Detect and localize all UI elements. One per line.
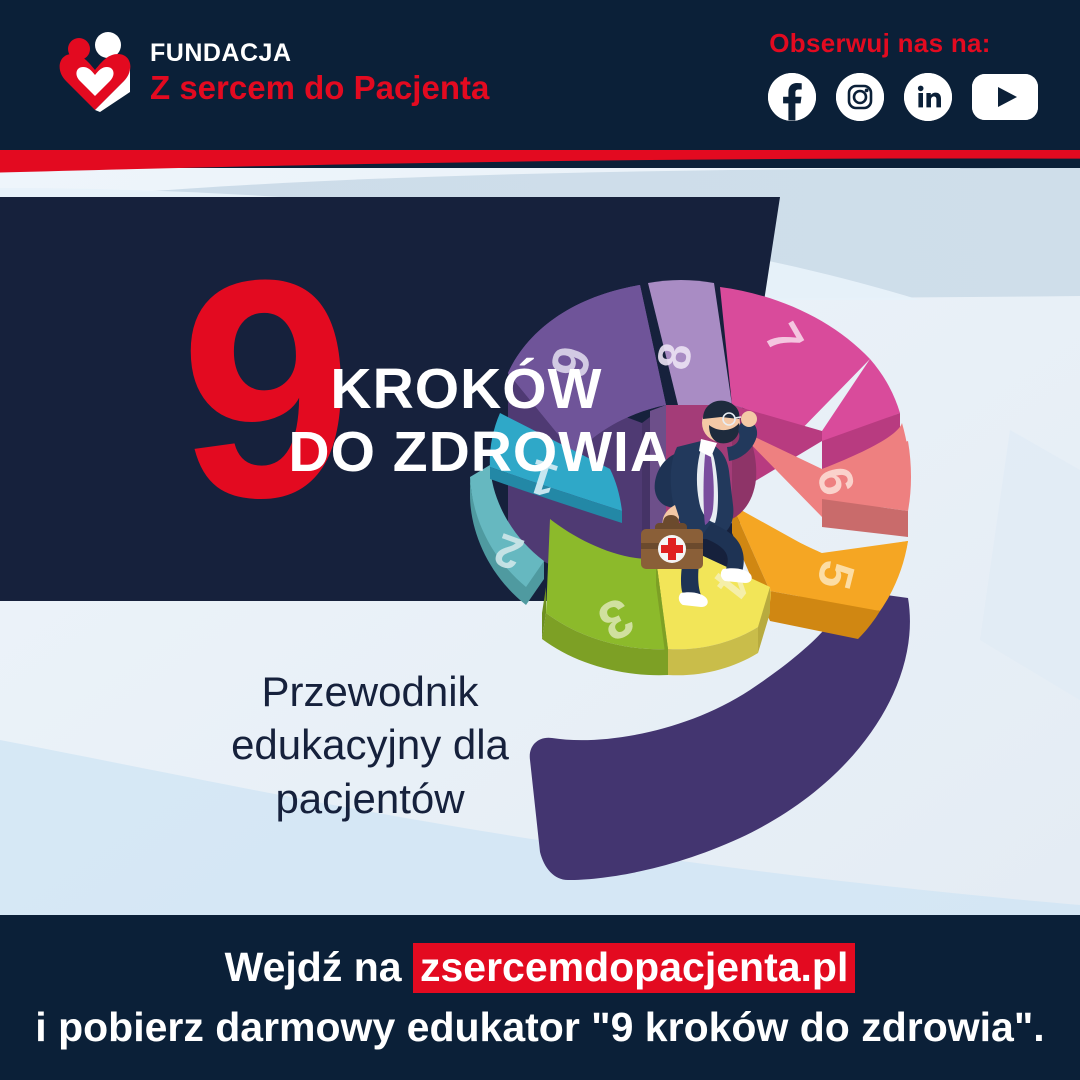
brand-logo[interactable]: FUNDACJA Z sercem do Pacjenta <box>56 32 489 112</box>
facebook-icon[interactable] <box>768 73 816 121</box>
follow-us-block: Obserwuj nas na: <box>720 28 1040 121</box>
cta-line-1-prefix: Wejdź na <box>225 944 413 990</box>
cta-line-2: i pobierz darmowy edukator "9 kroków do … <box>35 1004 1044 1051</box>
headline-block: 9 KROKÓW DO ZDROWIA <box>180 268 672 510</box>
social-icon-row <box>720 73 1040 121</box>
businessman-climbing-illustration <box>625 385 795 610</box>
youtube-icon[interactable] <box>972 74 1038 120</box>
logo-line-2: Z sercem do Pacjenta <box>150 71 489 104</box>
header-bar: FUNDACJA Z sercem do Pacjenta Obserwuj n… <box>0 0 1080 150</box>
logo-line-1: FUNDACJA <box>150 41 489 66</box>
heart-people-logo-icon <box>56 32 134 112</box>
headline-word-krokow: KROKÓW <box>330 360 672 418</box>
footer-cta-bar: Wejdź na zsercemdopacjenta.pl i pobierz … <box>0 915 1080 1080</box>
instagram-icon[interactable] <box>836 73 884 121</box>
subtitle-text: Przewodnik edukacyjny dla pacjentów <box>210 665 530 825</box>
red-accent-stripe <box>0 150 1080 176</box>
headline-word-do-zdrowia: DO ZDROWIA <box>288 423 672 481</box>
cta-website-highlight[interactable]: zsercemdopacjenta.pl <box>413 943 855 993</box>
cta-line-1: Wejdź na zsercemdopacjenta.pl <box>225 944 856 991</box>
poster-canvas: FUNDACJA Z sercem do Pacjenta Obserwuj n… <box>0 0 1080 1080</box>
follow-us-label: Obserwuj nas na: <box>720 28 1040 59</box>
linkedin-icon[interactable] <box>904 73 952 121</box>
